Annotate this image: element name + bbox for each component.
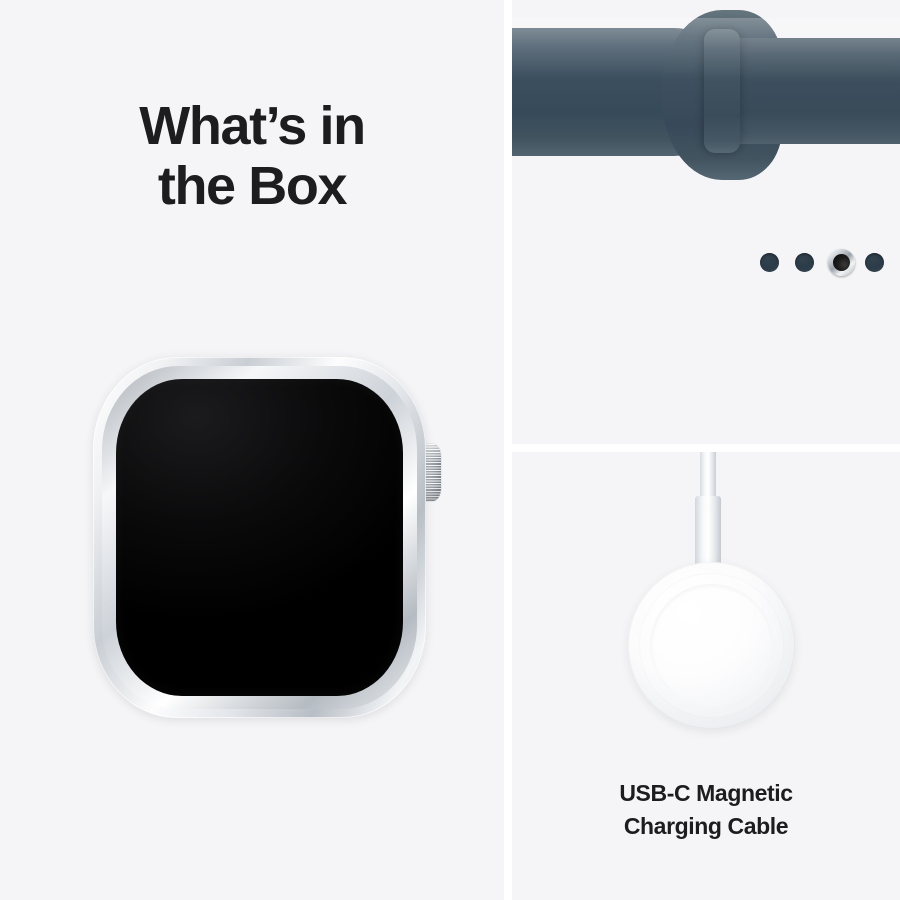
band-keeper-loop: [704, 29, 740, 153]
watch-panel: What’s in the Box: [0, 0, 504, 900]
apple-watch-illustration: [93, 357, 426, 718]
charging-puck: [628, 562, 795, 729]
watch-display: [116, 379, 403, 696]
sport-band-panel: Sport Band: [512, 0, 900, 444]
charging-cable-label: USB-C Magnetic Charging Cable: [512, 777, 900, 842]
band-hole: [795, 253, 814, 272]
whats-in-the-box-graphic: What’s in the Box Sport Band: [0, 0, 900, 900]
band-hole: [865, 253, 884, 272]
cable-collar: [695, 496, 721, 568]
page-title: What’s in the Box: [0, 96, 504, 217]
sport-band-illustration: [512, 0, 900, 444]
watch-case: [93, 357, 426, 718]
band-hole: [760, 253, 779, 272]
charging-cable-panel: USB-C Magnetic Charging Cable: [512, 452, 900, 900]
band-pin: [828, 249, 855, 276]
